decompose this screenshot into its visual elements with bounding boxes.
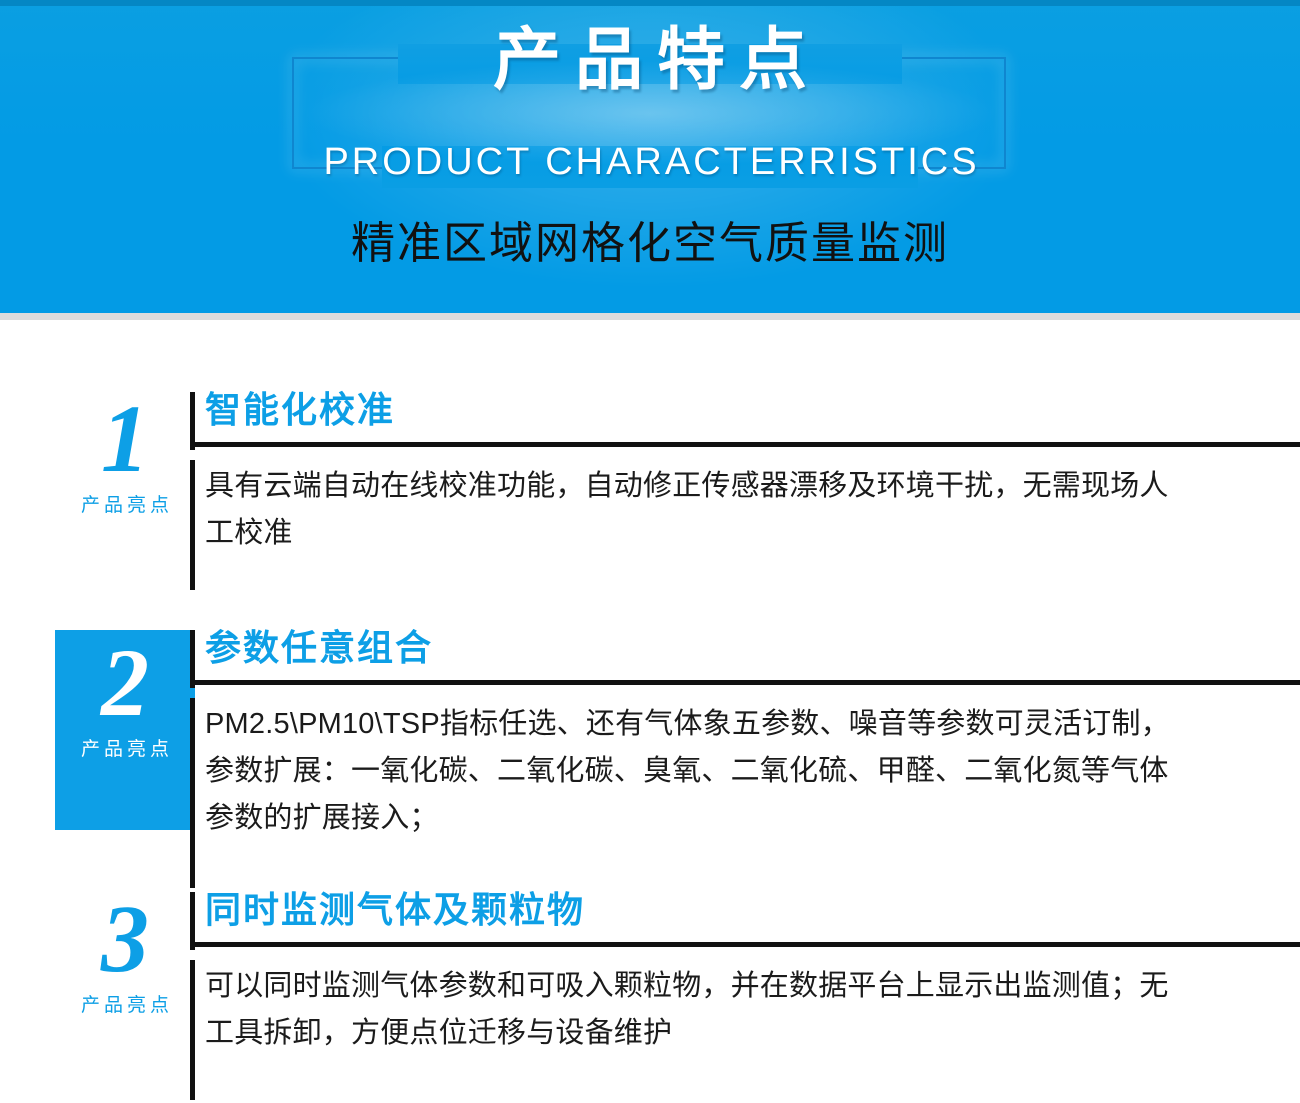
feature-content-3: 同时监测气体及颗粒物 可以同时监测气体参数和可吸入颗粒物，并在数据平台上显示出监… — [205, 892, 1300, 1057]
page-title: 产品特点 — [0, 26, 1300, 94]
feature-title-2: 参数任意组合 — [205, 630, 1300, 666]
feature-rule-3 — [205, 942, 1300, 947]
feature-badge-3: 3 产品亮点 — [55, 892, 195, 1017]
feature-rule-2 — [205, 680, 1300, 685]
feature-list: 1 产品亮点 智能化校准 具有云端自动在线校准功能，自动修正传感器漂移及环境干扰… — [0, 320, 1300, 1103]
page-header: 产品特点 PRODUCT CHARACTERRISTICS 精准区域网格化空气质… — [0, 0, 1300, 313]
feature-content-2: 参数任意组合 PM2.5\PM10\TSP指标任选、还有气体象五参数、噪音等参数… — [205, 630, 1300, 842]
feature-rule-line-3 — [190, 942, 1300, 947]
feature-rule-1 — [205, 442, 1300, 447]
feature-number-2: 2 — [55, 636, 195, 730]
feature-body-2: PM2.5\PM10\TSP指标任选、还有气体象五参数、噪音等参数可灵活订制，参… — [205, 701, 1180, 842]
feature-badge-label-2: 产品亮点 — [55, 734, 195, 761]
header-bottom-strip — [0, 313, 1300, 320]
feature-body-1: 具有云端自动在线校准功能，自动修正传感器漂移及环境干扰，无需现场人工校准 — [205, 463, 1180, 557]
feature-divider-2b — [190, 698, 195, 888]
feature-title-1: 智能化校准 — [205, 392, 1300, 428]
feature-number-3: 3 — [55, 892, 195, 986]
feature-rule-line-2 — [190, 680, 1300, 685]
feature-body-3: 可以同时监测气体参数和可吸入颗粒物，并在数据平台上显示出监测值；无工具拆卸，方便… — [205, 963, 1180, 1057]
feature-number-1: 1 — [55, 392, 195, 486]
page-subtitle: 精准区域网格化空气质量监测 — [0, 222, 1300, 266]
feature-badge-label-3: 产品亮点 — [55, 990, 195, 1017]
feature-badge-1: 1 产品亮点 — [55, 392, 195, 517]
page-title-english: PRODUCT CHARACTERRISTICS — [0, 143, 1300, 181]
feature-divider-3b — [190, 960, 195, 1100]
feature-title-3: 同时监测气体及颗粒物 — [205, 892, 1300, 928]
feature-rule-line-1 — [190, 442, 1300, 447]
header-top-strip — [0, 0, 1300, 6]
feature-badge-label-1: 产品亮点 — [55, 490, 195, 517]
feature-badge-2: 2 产品亮点 — [55, 630, 195, 830]
feature-content-1: 智能化校准 具有云端自动在线校准功能，自动修正传感器漂移及环境干扰，无需现场人工… — [205, 392, 1300, 557]
feature-divider-1b — [190, 460, 195, 590]
